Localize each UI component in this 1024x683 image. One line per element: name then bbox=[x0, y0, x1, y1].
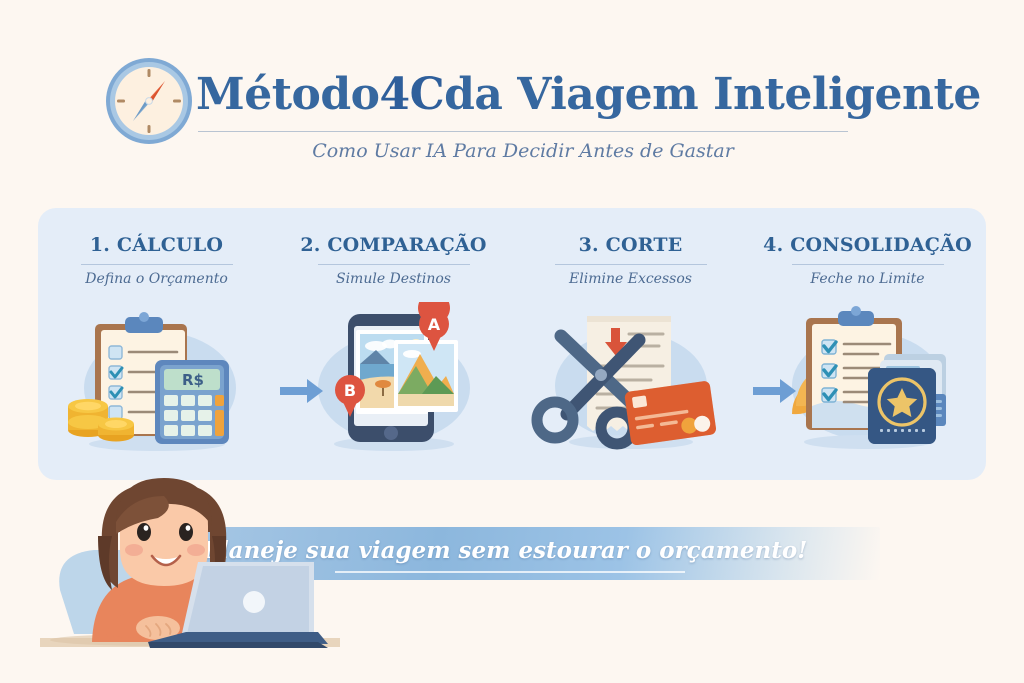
photo-mountain bbox=[394, 340, 458, 412]
step-arrow-1-icon bbox=[280, 378, 324, 404]
title-segment-accent: 4C bbox=[379, 69, 444, 120]
passport bbox=[868, 368, 936, 444]
title-divider bbox=[198, 131, 848, 132]
page-subtitle: Como Usar IA Para Decidir Antes de Gasta… bbox=[198, 140, 848, 162]
step-divider bbox=[81, 264, 233, 265]
steps-panel: 1. CÁLCULO Defina o Orçamento bbox=[38, 208, 986, 480]
banner-underline bbox=[335, 571, 685, 573]
woman-with-laptop-illustration bbox=[40, 470, 340, 683]
step-divider bbox=[318, 264, 470, 265]
step-divider bbox=[555, 264, 707, 265]
calculator-display: R$ bbox=[182, 371, 204, 389]
step-card-consolidacao[interactable]: 4. CONSOLIDAÇÃO Feche no Limite bbox=[749, 208, 986, 480]
scissors-receipt-credit-card-illustration bbox=[531, 302, 731, 462]
step-subtitle: Simule Destinos bbox=[275, 271, 512, 287]
compass-icon bbox=[103, 55, 195, 147]
step-card-corte[interactable]: 3. CORTE Elimine Excessos bbox=[512, 208, 749, 480]
step-arrow-2-icon bbox=[753, 378, 797, 404]
step-card-comparacao[interactable]: 2. COMPARAÇÃO Simule Destinos bbox=[275, 208, 512, 480]
page-header: Método 4C da Viagem Inteligente Como Usa… bbox=[0, 0, 1024, 190]
step-title: 4. CONSOLIDAÇÃO bbox=[749, 234, 986, 256]
step-card-calculo[interactable]: 1. CÁLCULO Defina o Orçamento bbox=[38, 208, 275, 480]
clipboard-passport-tickets-illustration bbox=[768, 302, 968, 462]
step-subtitle: Elimine Excessos bbox=[512, 271, 749, 287]
clipboard-checkboxes bbox=[822, 340, 836, 402]
step-subtitle: Feche no Limite bbox=[749, 271, 986, 287]
step-title: 1. CÁLCULO bbox=[38, 234, 275, 256]
steps-row: 1. CÁLCULO Defina o Orçamento bbox=[38, 208, 986, 480]
title-segment-3: da Viagem Inteligente bbox=[444, 69, 981, 120]
pin-a-label: A bbox=[427, 315, 440, 334]
title-segment-1: Método bbox=[196, 69, 379, 120]
step-divider bbox=[792, 264, 944, 265]
step-subtitle: Defina o Orçamento bbox=[38, 271, 275, 287]
calculator: R$ bbox=[155, 360, 229, 444]
clipboard-calculator-coins-illustration: R$ bbox=[57, 302, 257, 462]
pin-b-label: B bbox=[343, 381, 355, 400]
page-title: Método 4C da Viagem Inteligente bbox=[196, 58, 876, 130]
step-title: 2. COMPARAÇÃO bbox=[275, 234, 512, 256]
step-title: 3. CORTE bbox=[512, 234, 749, 256]
